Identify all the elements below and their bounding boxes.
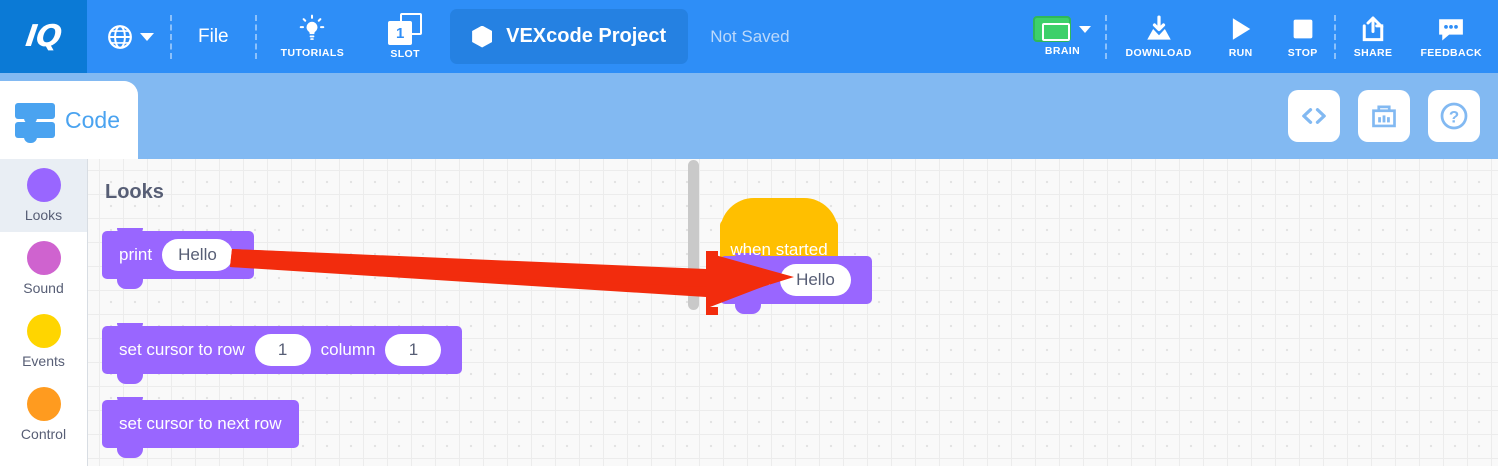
brain-icon — [1033, 16, 1071, 42]
monitor-icon — [1370, 102, 1398, 130]
run-label: RUN — [1229, 47, 1253, 59]
question-mark-icon: ? — [1439, 101, 1469, 131]
lightbulb-icon — [297, 14, 327, 44]
stop-icon — [1288, 14, 1318, 44]
language-selector[interactable] — [87, 0, 170, 73]
iq-logo: IQ — [0, 0, 87, 73]
column-input[interactable]: 1 — [385, 334, 441, 366]
print-text-input[interactable]: Hello — [162, 239, 233, 271]
stop-button[interactable]: STOP — [1272, 0, 1334, 73]
file-menu-button[interactable]: File — [172, 0, 255, 73]
palette-print-block[interactable]: print Hello — [102, 231, 254, 279]
run-button[interactable]: RUN — [1210, 0, 1272, 73]
code-bar: Code — [0, 73, 1498, 159]
blocks-workspace[interactable]: Looks print Hello set cursor to row 1 co… — [88, 159, 1498, 466]
code-blocks-icon — [15, 100, 55, 140]
save-status: Not Saved — [688, 0, 811, 73]
when-started-label: when started — [720, 220, 838, 280]
chevron-down-icon — [1079, 26, 1091, 33]
set-cursor-next-row-label: set cursor to next row — [116, 414, 285, 434]
download-button[interactable]: DOWNLOAD — [1107, 0, 1209, 73]
globe-icon — [107, 24, 133, 50]
feedback-label: FEEDBACK — [1420, 47, 1482, 59]
sidebar-item-control[interactable]: Control — [0, 378, 87, 451]
share-label: SHARE — [1354, 47, 1393, 59]
toolbar-spacer — [812, 0, 1020, 73]
vexcode-iq-app: IQ File — [0, 0, 1498, 466]
when-started-block[interactable]: when started — [720, 220, 838, 280]
brain-selector[interactable]: BRAIN — [1019, 0, 1105, 73]
tutorials-button[interactable]: TUTORIALS — [257, 0, 369, 73]
sidebar-item-label: Looks — [25, 207, 62, 223]
tab-code-label: Code — [65, 107, 120, 134]
palette-set-cursor-next-row-block[interactable]: set cursor to next row — [102, 400, 299, 448]
project-name: VEXcode Project — [506, 25, 666, 48]
slot-icon: 1 — [388, 13, 422, 45]
control-color-dot — [27, 387, 61, 421]
events-color-dot — [27, 314, 61, 348]
sidebar-item-looks[interactable]: Looks — [0, 159, 87, 232]
slot-number: 1 — [396, 26, 404, 41]
row-input[interactable]: 1 — [255, 334, 311, 366]
brain-label: BRAIN — [1045, 45, 1080, 57]
monitor-console-button[interactable] — [1358, 90, 1410, 142]
download-icon — [1143, 14, 1175, 44]
palette-set-cursor-row-column-block[interactable]: set cursor to row 1 column 1 — [102, 326, 462, 374]
top-toolbar: IQ File — [0, 0, 1498, 73]
sidebar-item-sensing[interactable] — [0, 451, 87, 466]
share-icon — [1358, 14, 1388, 44]
codebar-right-buttons: ? — [1288, 90, 1480, 142]
tab-code[interactable]: Code — [0, 81, 138, 159]
palette-category-title: Looks — [105, 181, 164, 204]
sidebar-item-label: Events — [22, 353, 65, 369]
feedback-button[interactable]: FEEDBACK — [1410, 0, 1498, 73]
share-button[interactable]: SHARE — [1336, 0, 1411, 73]
help-button[interactable]: ? — [1428, 90, 1480, 142]
sound-color-dot — [27, 241, 61, 275]
palette-scrollbar[interactable] — [688, 160, 699, 310]
svg-text:?: ? — [1449, 107, 1459, 126]
sidebar-item-events[interactable]: Events — [0, 305, 87, 378]
project-name-button[interactable]: VEXcode Project — [450, 9, 688, 64]
sidebar-item-label: Sound — [23, 280, 63, 296]
looks-color-dot — [27, 168, 61, 202]
download-label: DOWNLOAD — [1125, 47, 1191, 59]
brain-row — [1033, 16, 1091, 42]
angle-brackets-icon — [1299, 103, 1329, 129]
sidebar-item-sound[interactable]: Sound — [0, 232, 87, 305]
comment-icon — [1435, 14, 1467, 44]
stop-label: STOP — [1288, 47, 1318, 59]
column-label: column — [318, 340, 379, 360]
play-icon — [1226, 14, 1256, 44]
slot-selector[interactable]: 1 SLOT — [368, 0, 442, 73]
chevron-down-icon — [140, 33, 154, 41]
hexagon-icon — [472, 26, 492, 48]
iq-logo-text: IQ — [24, 19, 64, 54]
set-cursor-row-label: set cursor to row — [116, 340, 248, 360]
slot-label: SLOT — [390, 48, 420, 60]
tutorials-label: TUTORIALS — [281, 47, 345, 59]
sidebar-item-label: Control — [21, 426, 66, 442]
view-code-button[interactable] — [1288, 90, 1340, 142]
category-sidebar: Looks Sound Events Control — [0, 159, 88, 466]
print-block-label: print — [116, 245, 155, 265]
